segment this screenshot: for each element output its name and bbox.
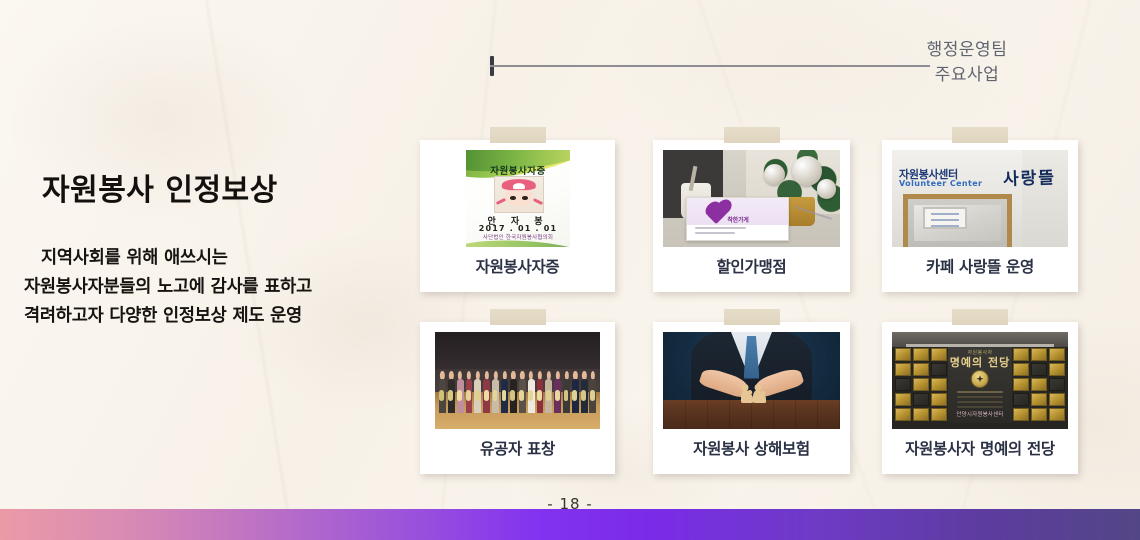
- body-copy-line-3: 격려하고자 다양한 인정보상 제도 운영: [24, 302, 312, 331]
- page-title: 자원봉사 인정보상: [42, 165, 278, 209]
- photo-card-cafe-sarangddeul[interactable]: 자원봉사센터 Volunteer Center 사랑뜰 카페 사랑뜰 운영: [882, 140, 1078, 292]
- photo-cafe-entrance: 자원봉사센터 Volunteer Center 사랑뜰: [892, 150, 1068, 247]
- photo-card-volunteer-id[interactable]: 자원봉사자증 안 자 봉 2017 . 01 . 01 사단법인 한국자원봉사협…: [420, 140, 615, 292]
- photo-hall-of-fame-wall: 자원봉사자 명예의 전당 안양시자원봉사센터: [892, 332, 1068, 429]
- cert-date-text: 2017 . 01 . 01: [466, 224, 570, 233]
- tape-strip-icon: [952, 127, 1008, 143]
- header-title-line2: 주요사업: [852, 63, 1082, 88]
- award-people-row: [438, 371, 596, 414]
- photo-volunteer-id-certificate: 자원봉사자증 안 자 봉 2017 . 01 . 01 사단법인 한국자원봉사협…: [466, 150, 570, 247]
- hall-of-fame-title: 명예의 전당: [948, 354, 1011, 370]
- body-copy-line-2: 자원봉사자분들의 노고에 감사를 표하고: [24, 273, 312, 302]
- tape-strip-icon: [952, 309, 1008, 325]
- card-caption: 카페 사랑뜰 운영: [882, 255, 1078, 277]
- hall-of-fame-plaques-left: [895, 348, 948, 421]
- card-caption: 자원봉사자 명예의 전당: [882, 437, 1078, 459]
- tape-strip-icon: [490, 309, 546, 325]
- cafe-sign-english: Volunteer Center: [899, 179, 982, 188]
- hall-of-fame-plaques-right: [1013, 348, 1066, 421]
- slide-canvas: 행정운영팀 주요사업 자원봉사 인정보상 지역사회를 위해 애쓰시는 자원봉사자…: [0, 0, 1140, 540]
- tape-strip-icon: [724, 309, 780, 325]
- card-caption: 할인가맹점: [653, 255, 850, 277]
- photo-award-ceremony: [435, 332, 600, 429]
- body-copy: 지역사회를 위해 애쓰시는 자원봉사자분들의 노고에 감사를 표하고 격려하고자…: [24, 244, 312, 331]
- photo-card-accident-insurance[interactable]: 자원봉사 상해보험: [653, 322, 850, 474]
- photo-good-shop-sign: 착한가게: [663, 150, 840, 247]
- cafe-sign-name: 사랑뜰: [1002, 163, 1056, 190]
- card-caption: 자원봉사자증: [420, 255, 615, 277]
- photo-card-hall-of-fame[interactable]: 자원봉사자 명예의 전당 안양시자원봉사센터 자원봉사자 명예의 전당: [882, 322, 1078, 474]
- hall-of-fame-logo-text: 안양시자원봉사센터: [948, 410, 1011, 418]
- photo-insurance-protecting-hands: [663, 332, 840, 429]
- tape-strip-icon: [490, 127, 546, 143]
- header-title: 행정운영팀 주요사업: [852, 38, 1082, 87]
- cert-title-text: 자원봉사자증: [466, 163, 570, 177]
- body-copy-line-1: 지역사회를 위해 애쓰시는: [24, 244, 312, 273]
- photo-card-award-ceremony[interactable]: 유공자 표창: [420, 322, 615, 474]
- header-title-line1: 행정운영팀: [852, 38, 1082, 63]
- footer-gradient-bar: [0, 509, 1140, 540]
- photo-card-discount-shop[interactable]: 착한가게 할인가맹점: [653, 140, 850, 292]
- card-caption: 자원봉사 상해보험: [653, 437, 850, 459]
- good-shop-sign-text: 착한가게: [727, 215, 748, 224]
- tape-strip-icon: [724, 127, 780, 143]
- card-caption: 유공자 표창: [420, 437, 615, 459]
- emblem-icon: [971, 370, 989, 388]
